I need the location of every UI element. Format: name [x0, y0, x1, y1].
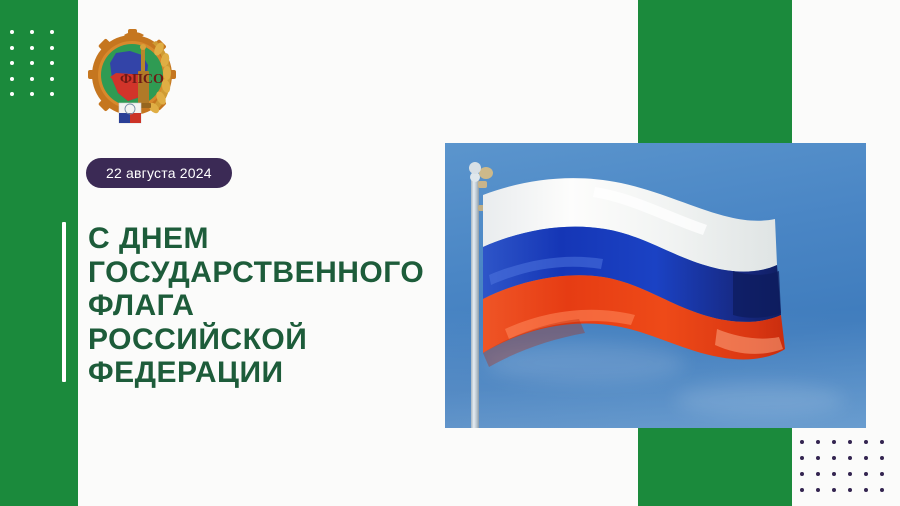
headline-line: ФЛАГА: [88, 289, 424, 323]
dot: [832, 472, 836, 476]
dot: [50, 30, 54, 34]
dot: [880, 472, 884, 476]
dot: [30, 61, 34, 65]
accent-rule: [62, 222, 66, 382]
dot: [30, 77, 34, 81]
dot: [864, 472, 868, 476]
dot: [848, 488, 852, 492]
dot: [816, 440, 820, 444]
dot: [50, 77, 54, 81]
dot: [816, 472, 820, 476]
dot: [816, 488, 820, 492]
dot: [30, 30, 34, 34]
page-title: С ДНЕМ ГОСУДАРСТВЕННОГО ФЛАГА РОССИЙСКОЙ…: [88, 222, 424, 390]
dot: [10, 61, 14, 65]
dot: [816, 456, 820, 460]
dot: [800, 488, 804, 492]
dot: [800, 456, 804, 460]
dot: [880, 456, 884, 460]
dot: [864, 440, 868, 444]
headline-line: С ДНЕМ: [88, 222, 424, 256]
dot: [832, 488, 836, 492]
dot: [832, 440, 836, 444]
dot: [800, 440, 804, 444]
dot: [864, 456, 868, 460]
left-dot-grid-decoration: [10, 30, 70, 108]
dot: [10, 46, 14, 50]
dot: [848, 472, 852, 476]
dot: [848, 456, 852, 460]
dot: [30, 46, 34, 50]
headline-line: ГОСУДАРСТВЕННОГО: [88, 256, 424, 290]
dot: [848, 440, 852, 444]
dot: [50, 92, 54, 96]
dot: [10, 77, 14, 81]
fpso-emblem-logo: ФПСО: [86, 27, 178, 133]
emblem-tricolor-badge: [119, 103, 141, 123]
dot: [832, 456, 836, 460]
russian-flag-photo: [445, 143, 866, 428]
date-badge: 22 августа 2024: [86, 158, 232, 188]
emblem-acronym-text: ФПСО: [120, 72, 164, 87]
dot: [864, 488, 868, 492]
dot: [10, 30, 14, 34]
headline-block: С ДНЕМ ГОСУДАРСТВЕННОГО ФЛАГА РОССИЙСКОЙ…: [62, 222, 424, 390]
dot: [800, 472, 804, 476]
headline-line: ФЕДЕРАЦИИ: [88, 356, 424, 390]
dot: [50, 61, 54, 65]
headline-line: РОССИЙСКОЙ: [88, 323, 424, 357]
blue-shadow-fold: [733, 271, 781, 318]
dot: [880, 440, 884, 444]
dot: [880, 488, 884, 492]
right-dot-grid-decoration: [800, 440, 896, 504]
dot: [10, 92, 14, 96]
dot: [50, 46, 54, 50]
dot: [30, 92, 34, 96]
poster-canvas: ФПСО 22 августа 2024 С ДНЕМ ГОСУДАРСТВЕН…: [0, 0, 900, 506]
